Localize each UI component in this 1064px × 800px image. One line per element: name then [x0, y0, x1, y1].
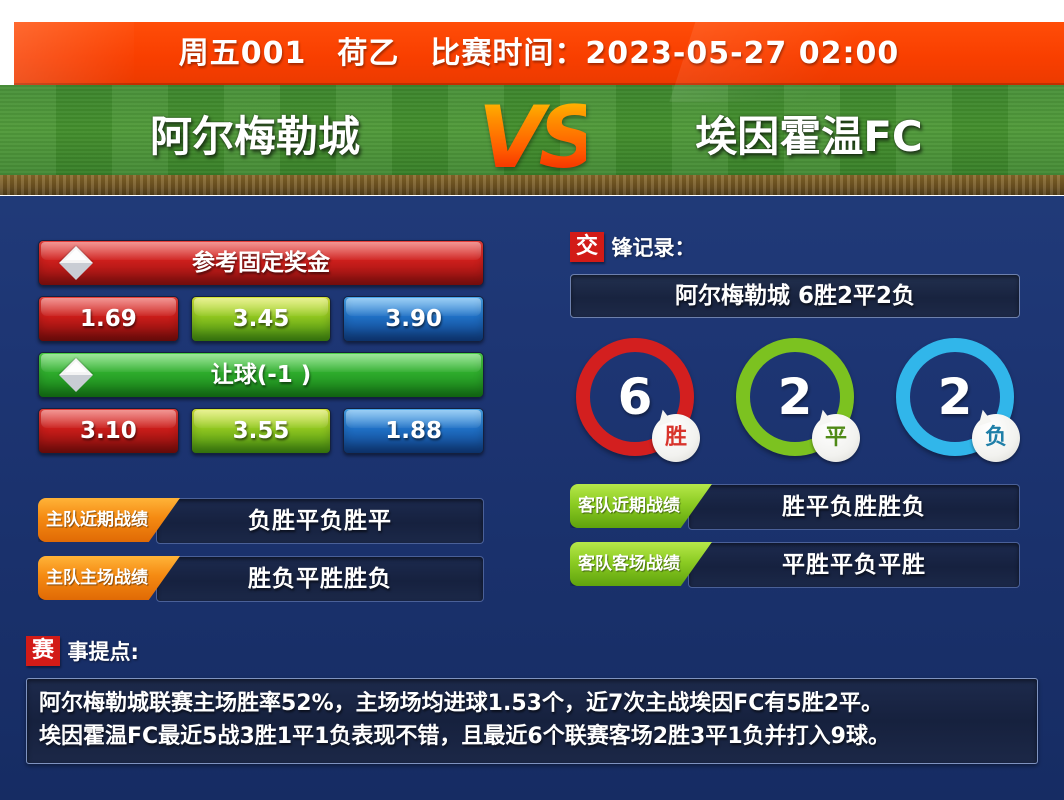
- head-to-head-title-chip: 交: [570, 232, 604, 262]
- ring-draws-badge: 平: [812, 414, 860, 462]
- odds-panel: 参考固定奖金 1.69 3.45 3.90 让球(-1 ) 3.10: [38, 240, 484, 600]
- away-recent-form-slot: 胜平负胜胜负: [688, 484, 1020, 530]
- versus-icon: VS: [478, 88, 586, 196]
- diamond-gem-icon: [59, 358, 93, 392]
- away-team-name: 埃因霍温FC: [609, 101, 1009, 173]
- odds-fixed-home[interactable]: 1.69: [38, 296, 179, 342]
- odds-fixed-home-value: 1.69: [39, 297, 178, 341]
- odds-handicap-draw[interactable]: 3.55: [191, 408, 332, 454]
- odds-title-bar: 参考固定奖金: [38, 240, 484, 286]
- diamond-gem-icon: [59, 246, 93, 280]
- ring-draws: 2 平: [736, 338, 854, 456]
- head-to-head-panel: 交 锋记录： 阿尔梅勒城 6胜2平2负 6 胜 2 平: [570, 232, 1020, 586]
- home-recent-form-slot: 负胜平负胜平: [156, 498, 484, 544]
- head-to-head-summary-bar: 阿尔梅勒城 6胜2平2负: [570, 274, 1020, 318]
- head-to-head-title: 交 锋记录：: [570, 232, 1020, 266]
- analysis-title-chip: 赛: [26, 636, 60, 666]
- head-to-head-title-rest: 锋记录：: [611, 232, 695, 262]
- analysis-panel: 赛 事提点: 阿尔梅勒城联赛主场胜率52%，主场场均进球1.53个，近7次主战埃…: [26, 636, 1038, 764]
- home-team-name: 阿尔梅勒城: [55, 101, 455, 173]
- odds-handicap-home-value: 3.10: [39, 409, 178, 453]
- analysis-line-1: 阿尔梅勒城联赛主场胜率52%，主场场均进球1.53个，近7次主战埃因FC有5胜2…: [39, 687, 1025, 720]
- analysis-title: 赛 事提点:: [26, 636, 1038, 670]
- match-preview-card: 周五001 荷乙 比赛时间：2023-05-27 02:00 阿尔梅勒城 VS …: [0, 0, 1064, 800]
- ring-wins-badge-label: 胜: [652, 414, 700, 462]
- header-area: 周五001 荷乙 比赛时间：2023-05-27 02:00 阿尔梅勒城 VS …: [0, 0, 1064, 196]
- analysis-line-2: 埃因霍温FC最近5战3胜1平1负表现不错，且最近6个联赛客场2胜3平1负并打入9…: [39, 720, 1025, 753]
- odds-handicap-away-value: 1.88: [344, 409, 483, 453]
- home-form-group: 主队近期战绩 负胜平负胜平 主队主场战绩 胜负平胜胜负: [38, 498, 484, 600]
- ring-wins-badge: 胜: [652, 414, 700, 462]
- handicap-title-label: 让球(-1 ): [39, 353, 483, 397]
- away-recent-form-value: 胜平负胜胜负: [689, 485, 1019, 529]
- handicap-odds-row: 3.10 3.55 1.88: [38, 408, 484, 454]
- home-recent-form-value: 负胜平负胜平: [157, 499, 483, 543]
- analysis-title-rest: 事提点:: [67, 636, 138, 666]
- odds-title-label: 参考固定奖金: [39, 241, 483, 285]
- odds-handicap-home[interactable]: 3.10: [38, 408, 179, 454]
- match-info-text: 周五001 荷乙 比赛时间：2023-05-27 02:00: [14, 22, 1064, 85]
- odds-fixed-away-value: 3.90: [344, 297, 483, 341]
- ring-losses-badge: 负: [972, 414, 1020, 462]
- home-home-form-slot: 胜负平胜胜负: [156, 556, 484, 602]
- away-away-form-row: 客队客场战绩 平胜平负平胜: [570, 542, 1020, 586]
- odds-fixed-draw-value: 3.45: [192, 297, 331, 341]
- ring-losses-badge-label: 负: [972, 414, 1020, 462]
- handicap-title-bar: 让球(-1 ): [38, 352, 484, 398]
- odds-handicap-away[interactable]: 1.88: [343, 408, 484, 454]
- away-recent-form-row: 客队近期战绩 胜平负胜胜负: [570, 484, 1020, 528]
- home-recent-form-row: 主队近期战绩 负胜平负胜平: [38, 498, 484, 542]
- ring-losses: 2 负: [896, 338, 1014, 456]
- match-info-banner: 周五001 荷乙 比赛时间：2023-05-27 02:00: [14, 22, 1064, 85]
- fixed-odds-row: 1.69 3.45 3.90: [38, 296, 484, 342]
- home-home-form-row: 主队主场战绩 胜负平胜胜负: [38, 556, 484, 600]
- away-away-form-slot: 平胜平负平胜: [688, 542, 1020, 588]
- head-to-head-summary-text: 阿尔梅勒城 6胜2平2负: [571, 275, 1019, 317]
- analysis-text-box: 阿尔梅勒城联赛主场胜率52%，主场场均进球1.53个，近7次主战埃因FC有5胜2…: [26, 678, 1038, 764]
- odds-fixed-draw[interactable]: 3.45: [191, 296, 332, 342]
- away-away-form-value: 平胜平负平胜: [689, 543, 1019, 587]
- odds-handicap-draw-value: 3.55: [192, 409, 331, 453]
- ring-draws-badge-label: 平: [812, 414, 860, 462]
- head-to-head-rings: 6 胜 2 平 2 负: [570, 338, 1020, 456]
- ring-wins: 6 胜: [576, 338, 694, 456]
- home-home-form-value: 胜负平胜胜负: [157, 557, 483, 601]
- odds-fixed-away[interactable]: 3.90: [343, 296, 484, 342]
- away-form-group: 客队近期战绩 胜平负胜胜负 客队客场战绩 平胜平负平胜: [570, 484, 1020, 586]
